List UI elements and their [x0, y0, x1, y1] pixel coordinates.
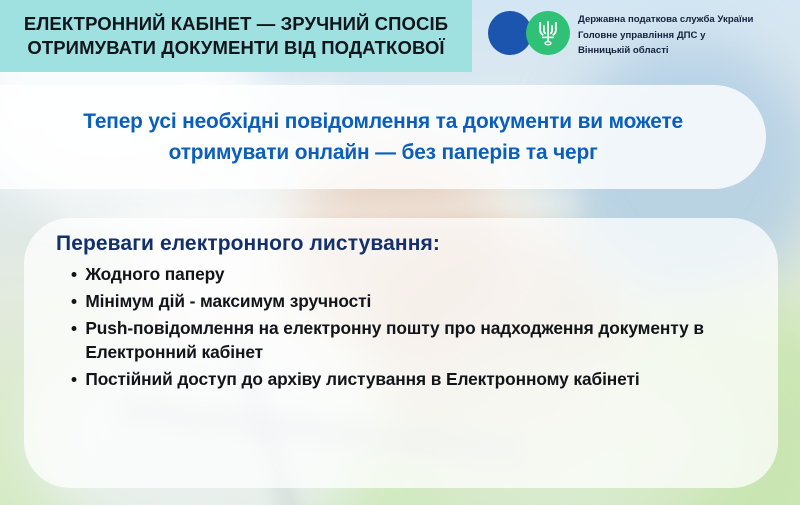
bullet-icon [72, 377, 77, 382]
header-title-band: ЕЛЕКТРОННИЙ КАБІНЕТ — ЗРУЧНИЙ СПОСІБ ОТР… [0, 0, 472, 72]
list-item-label: Постійний доступ до архіву листування в … [85, 369, 639, 389]
bullet-icon [72, 326, 77, 331]
list-item: Постійний доступ до архіву листування в … [42, 367, 741, 391]
agency-line-2: Головне управління ДПС у [578, 28, 753, 44]
lead-statement-panel: Тепер усі необхідні повідомлення та доку… [0, 85, 766, 189]
infographic-poster: ЕЛЕКТРОННИЙ КАБІНЕТ — ЗРУЧНИЙ СПОСІБ ОТР… [0, 0, 800, 505]
advantages-list: Жодного паперу Мінімум дій - максимум зр… [42, 262, 752, 391]
header-title-line-2: ОТРИМУВАТИ ДОКУМЕНТИ ВІД ПОДАТКОВОЇ [27, 36, 444, 60]
list-item: Жодного паперу [42, 262, 741, 286]
lead-statement-line-1: Тепер усі необхідні повідомлення та доку… [83, 106, 683, 137]
list-item: Мінімум дій - максимум зручності [42, 289, 741, 313]
agency-line-1: Державна податкова служба України [578, 12, 753, 28]
bullet-icon [72, 299, 77, 304]
agency-line-3: Вінницькій області [578, 43, 753, 59]
logo-marks [488, 11, 572, 55]
header-title-line-1: ЕЛЕКТРОННИЙ КАБІНЕТ — ЗРУЧНИЙ СПОСІБ [24, 12, 448, 36]
advantages-panel: Переваги електронного листування: Жодног… [24, 218, 778, 488]
list-item: Push-повідомлення на електронну пошту пр… [42, 316, 741, 364]
advantages-heading: Переваги електронного листування: [56, 232, 752, 256]
agency-logo-lockup: Державна податкова служба України Головн… [488, 11, 753, 59]
list-item-label: Push-повідомлення на електронну пошту пр… [85, 318, 704, 362]
agency-name-text: Державна податкова служба України Головн… [578, 11, 753, 59]
list-item-label: Мінімум дій - максимум зручності [85, 291, 371, 311]
green-circle-trident-icon [526, 11, 570, 55]
bullet-icon [72, 272, 77, 277]
lead-statement-line-2: отримувати онлайн — без паперів та черг [168, 137, 597, 168]
list-item-label: Жодного паперу [85, 264, 224, 284]
